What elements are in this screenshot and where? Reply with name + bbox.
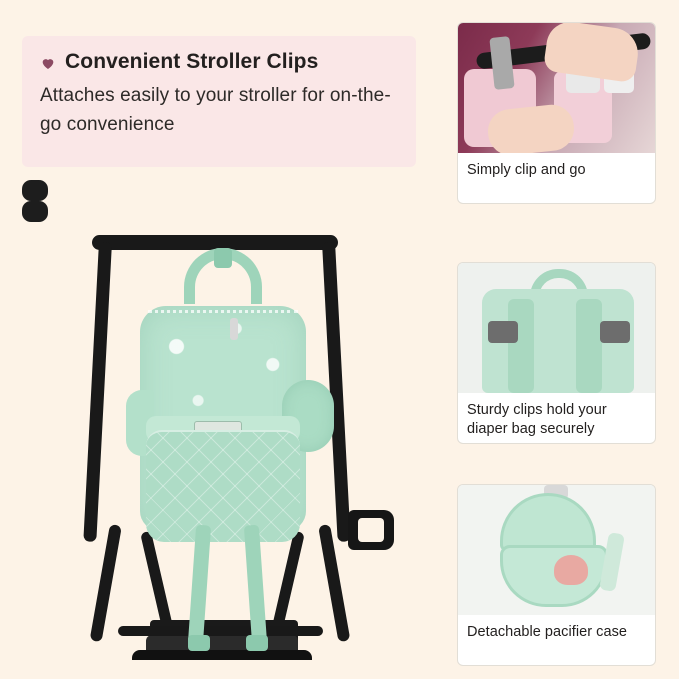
bag-handle-wrap <box>214 248 232 268</box>
thumbnail-photo-clip-and-go <box>458 23 655 153</box>
thumbnail-photo-sturdy-clips <box>458 263 655 393</box>
handlebar-left-grip <box>22 180 48 201</box>
hero-product-photo <box>22 180 442 660</box>
thumbnail-card-2[interactable]: Sturdy clips hold your diaper bag secure… <box>457 262 656 444</box>
headline-title: Convenient Stroller Clips <box>65 50 318 73</box>
stroller-crossbar <box>118 626 323 636</box>
headline-row: Convenient Stroller Clips <box>40 50 398 73</box>
stroller-clip-left <box>488 321 518 343</box>
heart-icon <box>40 55 56 71</box>
stroller-accessory-holder <box>348 510 394 550</box>
stroller-frame-left <box>83 242 112 542</box>
bag-strap-clip-right <box>246 635 268 651</box>
bag-zipper-pull <box>230 318 238 340</box>
shoulder-strap-left <box>508 299 534 393</box>
thumbnail-caption-1: Simply clip and go <box>458 153 655 180</box>
headline-subtitle: Attaches easily to your stroller for on-… <box>40 82 398 140</box>
headline-card: Convenient Stroller Clips Attaches easil… <box>22 36 416 167</box>
thumbnail-card-3[interactable]: Detachable pacifier case <box>457 484 656 666</box>
thumbnail-caption-3: Detachable pacifier case <box>458 615 655 642</box>
bag-zipper <box>148 310 298 327</box>
stroller-storage-basket <box>132 650 312 660</box>
shoulder-strap-right <box>576 299 602 393</box>
pacifier-icon <box>554 555 588 585</box>
thumbnail-caption-2: Sturdy clips hold your diaper bag secure… <box>458 393 655 438</box>
bag-quilted-texture <box>146 432 300 542</box>
thumbnail-photo-pacifier-case <box>458 485 655 615</box>
stroller-rear-leg-left <box>90 524 122 642</box>
stroller-clip-right <box>600 321 630 343</box>
handlebar-right-grip <box>22 201 48 222</box>
bag-front-pocket <box>146 430 300 542</box>
stroller-rear-leg-right <box>318 524 350 642</box>
bag-strap-clip-left <box>188 635 210 651</box>
thumbnail-card-1[interactable]: Simply clip and go <box>457 22 656 204</box>
product-feature-panel: Convenient Stroller Clips Attaches easil… <box>0 0 679 679</box>
diaper-bag <box>132 240 312 540</box>
